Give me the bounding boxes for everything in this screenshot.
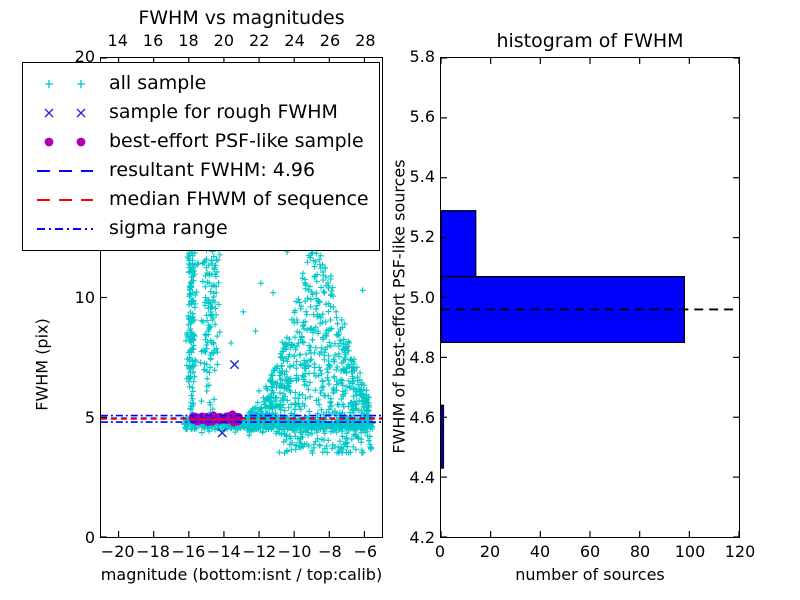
legend-label-0: all sample bbox=[109, 74, 206, 93]
legend-marker-1 bbox=[31, 103, 109, 123]
scatter-bottom-tick-1: −18 bbox=[136, 544, 170, 560]
scatter-bottom-tick-3: −14 bbox=[207, 544, 241, 560]
histogram-left-tick-0: 4.2 bbox=[389, 530, 435, 546]
scatter-top-tick-4: 22 bbox=[249, 33, 269, 49]
scatter-top-tick-6: 26 bbox=[320, 33, 340, 49]
scatter-left-tick-0: 0 bbox=[49, 530, 95, 546]
scatter-top-tick-7: 28 bbox=[355, 33, 375, 49]
histogram-left-tick-8: 5.8 bbox=[389, 49, 435, 65]
legend-item-4[interactable]: median FHWM of sequence bbox=[31, 185, 371, 214]
legend-marker-0 bbox=[31, 74, 109, 94]
histogram-plot-area[interactable] bbox=[440, 57, 740, 538]
histogram-title: histogram of FWHM bbox=[440, 30, 740, 52]
legend-item-0[interactable]: all sample bbox=[31, 69, 371, 98]
legend-label-3: resultant FWHM: 4.96 bbox=[109, 161, 315, 180]
scatter-y-axis-label: FWHM (pix) bbox=[33, 305, 52, 425]
dashed-line-icon bbox=[31, 190, 109, 210]
dashdot-line-icon bbox=[31, 219, 109, 239]
histogram-bottom-tick-4: 80 bbox=[630, 544, 650, 560]
histogram-bottom-tick-3: 60 bbox=[580, 544, 600, 560]
legend-label-2: best-effort PSF-like sample bbox=[109, 132, 364, 151]
legend-item-5[interactable]: sigma range bbox=[31, 214, 371, 243]
scatter-bottom-tick-2: −16 bbox=[172, 544, 206, 560]
scatter-title: FWHM vs magnitudes bbox=[100, 7, 383, 29]
histogram-bottom-tick-1: 20 bbox=[480, 544, 500, 560]
legend-marker-3 bbox=[31, 161, 109, 181]
scatter-top-tick-0: 14 bbox=[108, 33, 128, 49]
scatter-bottom-tick-4: −12 bbox=[242, 544, 276, 560]
histogram-bottom-tick-5: 100 bbox=[675, 544, 706, 560]
legend-marker-2 bbox=[31, 132, 109, 152]
histogram-canvas bbox=[441, 58, 739, 537]
plus-icon bbox=[31, 74, 109, 94]
histogram-bottom-tick-2: 40 bbox=[530, 544, 550, 560]
legend-item-2[interactable]: best-effort PSF-like sample bbox=[31, 127, 371, 156]
histogram-y-axis-label: FWHM of best-effort PSF-like sources bbox=[390, 107, 409, 507]
histogram-bars[interactable] bbox=[441, 211, 684, 468]
scatter-left-tick-2: 10 bbox=[49, 290, 95, 306]
cross-icon bbox=[31, 103, 109, 123]
scatter-top-tick-1: 16 bbox=[143, 33, 163, 49]
scatter-bottom-tick-0: −20 bbox=[101, 544, 135, 560]
scatter-bottom-tick-7: −6 bbox=[354, 544, 378, 560]
legend-label-1: sample for rough FWHM bbox=[109, 103, 338, 122]
dashed-line-icon bbox=[31, 161, 109, 181]
histogram-x-axis-label: number of sources bbox=[440, 565, 740, 584]
legend-label-5: sigma range bbox=[109, 219, 228, 238]
legend-marker-4 bbox=[31, 190, 109, 210]
scatter-left-tick-1: 5 bbox=[49, 410, 95, 426]
scatter-bottom-tick-6: −8 bbox=[318, 544, 342, 560]
histogram-bottom-tick-0: 0 bbox=[435, 544, 445, 560]
scatter-top-tick-2: 18 bbox=[178, 33, 198, 49]
scatter-top-tick-3: 20 bbox=[214, 33, 234, 49]
histogram-bar-3[interactable] bbox=[441, 211, 476, 277]
legend-item-3[interactable]: resultant FWHM: 4.96 bbox=[31, 156, 371, 185]
scatter-top-tick-5: 24 bbox=[284, 33, 304, 49]
legend-item-1[interactable]: sample for rough FWHM bbox=[31, 98, 371, 127]
dot-icon bbox=[31, 132, 109, 152]
legend-label-4: median FHWM of sequence bbox=[109, 190, 369, 209]
figure-canvas: FWHM vs magnitudes 1416182022242628 −20−… bbox=[0, 0, 800, 600]
scatter-bottom-tick-5: −10 bbox=[278, 544, 312, 560]
histogram-bar-0[interactable] bbox=[441, 405, 443, 468]
scatter-x-axis-label: magnitude (bottom:isnt / top:calib) bbox=[100, 565, 383, 584]
legend-marker-5 bbox=[31, 219, 109, 239]
scatter-legend[interactable]: all samplesample for rough FWHMbest-effo… bbox=[22, 62, 380, 251]
histogram-bottom-tick-6: 120 bbox=[725, 544, 756, 560]
